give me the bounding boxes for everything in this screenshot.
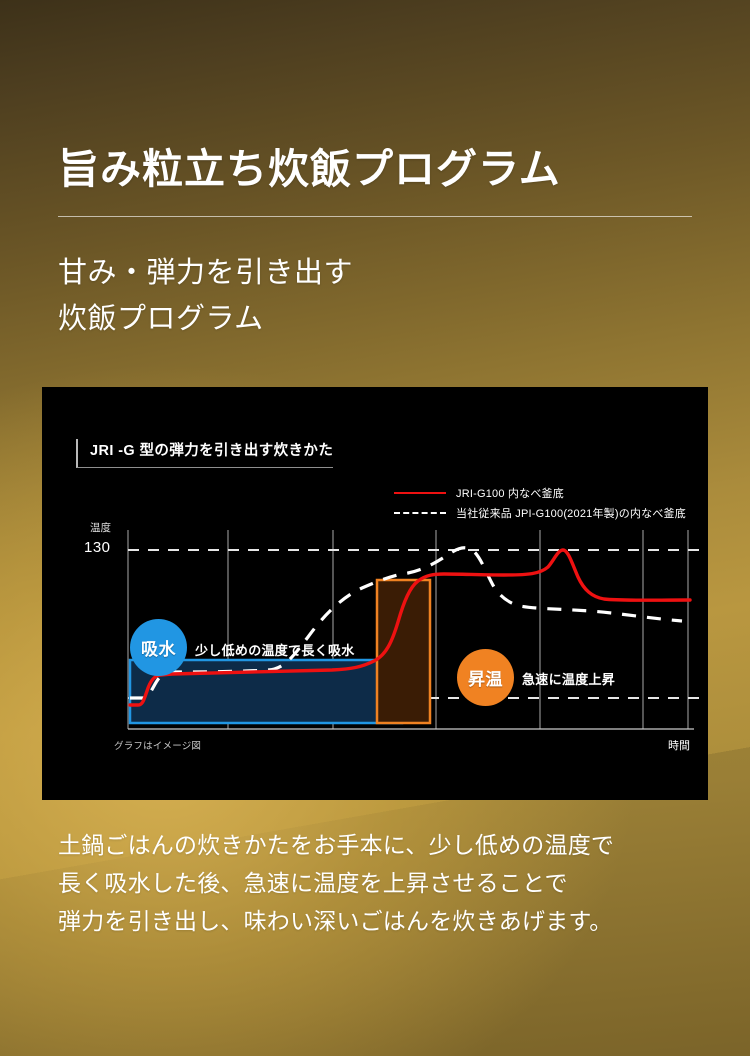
chart-panel: JRI -G 型の弾力を引き出す炊きかた JRI-G100 内なべ釜底 当社従来… [42,387,708,800]
body-line-1: 土鍋ごはんの炊きかたをお手本に、少し低めの温度で [58,827,718,865]
page-title: 旨み粒立ち炊飯プログラム [58,135,561,195]
subtitle-line-2: 炊飯プログラム [58,296,353,342]
chart-footnote: グラフはイメージ図 [114,738,201,752]
badge-absorb-caption: 少し低めの温度で長く吸水 [195,640,355,659]
subtitle-line-1: 甘み・弾力を引き出す [58,250,353,296]
x-axis-label: 時間 [668,737,690,753]
title-divider [58,216,692,217]
badge-heat: 昇温 [457,649,514,706]
page-root: 旨み粒立ち炊飯プログラム 甘み・弾力を引き出す 炊飯プログラム JRI -G 型… [0,0,750,1056]
badge-heat-caption: 急速に温度上昇 [522,669,615,688]
body-line-2: 長く吸水した後、急速に温度を上昇させることで [58,865,718,903]
body-line-3: 弾力を引き出し、味わい深いごはんを炊きあげます。 [58,903,718,941]
page-subtitle: 甘み・弾力を引き出す 炊飯プログラム [58,250,353,342]
body-paragraph: 土鍋ごはんの炊きかたをお手本に、少し低めの温度で 長く吸水した後、急速に温度を上… [58,827,718,941]
badge-absorb: 吸水 [130,619,187,676]
